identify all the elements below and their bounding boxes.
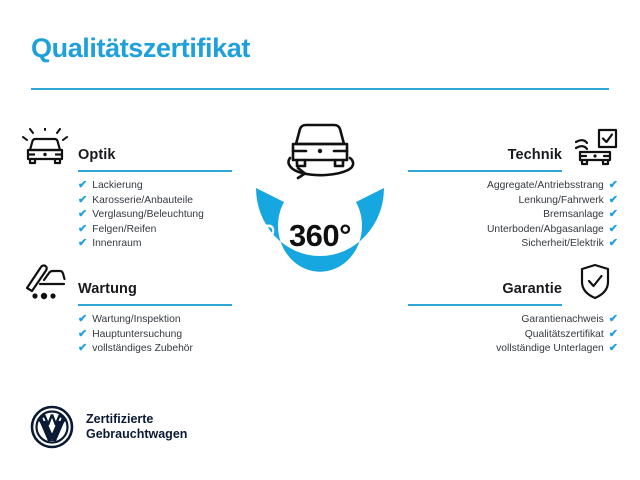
list-item-label: Karosserie/Anbauteile (92, 194, 193, 209)
list-item: ✔Verglasung/Beleuchtung (22, 208, 232, 223)
gebrauchtwagen-check-badge: Gebrauchtwagen-Check 360° (238, 118, 402, 318)
list-item-label: vollständiges Zubehör (92, 342, 193, 357)
checklist: Garantienachweis✔ Qualitätszertifikat✔ v… (408, 306, 618, 357)
section-technik: Technik Aggregate/Antriebsstrang✔ Lenkun… (408, 128, 618, 252)
section-header: Optik (22, 128, 232, 172)
volkswagen-logo (30, 405, 74, 449)
list-item-label: Felgen/Reifen (92, 223, 156, 238)
check-icon: ✔ (609, 195, 618, 206)
list-item-label: Bremsanlage (543, 208, 604, 223)
dipstick-oil-drops-icon (22, 262, 68, 302)
vw-footer: Zertifizierte Gebrauchtwagen (30, 405, 187, 449)
list-item-label: Lenkung/Fahrwerk (519, 194, 604, 209)
list-item-label: Hauptuntersuchung (92, 328, 182, 343)
list-item-label: Unterboden/Abgasanlage (487, 223, 604, 238)
list-item: Unterboden/Abgasanlage✔ (408, 223, 618, 238)
section-title: Wartung (78, 281, 137, 297)
list-item-label: vollständige Unterlagen (496, 342, 604, 357)
list-item: ✔Hauptuntersuchung (22, 328, 232, 343)
check-icon: ✔ (609, 238, 618, 249)
car-hood-checkbox-icon (572, 128, 618, 168)
checklist: Aggregate/Antriebsstrang✔ Lenkung/Fahrwe… (408, 172, 618, 252)
section-title: Technik (508, 147, 562, 163)
list-item: ✔Wartung/Inspektion (22, 313, 232, 328)
list-item: ✔vollständiges Zubehör (22, 342, 232, 357)
list-item-label: Qualitätszertifikat (525, 328, 604, 343)
check-icon: ✔ (609, 209, 618, 220)
check-icon: ✔ (78, 195, 87, 206)
section-header: Wartung (22, 262, 232, 306)
badge-center-label: 360° (238, 218, 402, 254)
list-item: Sicherheit/Elektrik✔ (408, 237, 618, 252)
list-item: Qualitätszertifikat✔ (408, 328, 618, 343)
list-item: vollständige Unterlagen✔ (408, 342, 618, 357)
check-icon: ✔ (609, 180, 618, 191)
list-item-label: Sicherheit/Elektrik (521, 237, 603, 252)
page-title: Qualitätszertifikat (31, 33, 250, 64)
list-item-label: Wartung/Inspektion (92, 313, 180, 328)
section-underline (408, 170, 562, 172)
checklist: ✔Wartung/Inspektion ✔Hauptuntersuchung ✔… (22, 306, 232, 357)
title-divider (31, 88, 609, 90)
list-item: ✔Karosserie/Anbauteile (22, 194, 232, 209)
check-icon: ✔ (609, 314, 618, 325)
list-item: Garantienachweis✔ (408, 313, 618, 328)
check-icon: ✔ (78, 329, 87, 340)
check-icon: ✔ (78, 180, 87, 191)
list-item-label: Lackierung (92, 179, 142, 194)
list-item-label: Innenraum (92, 237, 141, 252)
list-item: ✔Lackierung (22, 179, 232, 194)
section-optik: Optik ✔Lackierung ✔Karosserie/Anbauteile… (22, 128, 232, 252)
section-title: Optik (78, 147, 116, 163)
section-underline (78, 304, 232, 306)
list-item-label: Garantienachweis (521, 313, 603, 328)
check-icon: ✔ (78, 209, 87, 220)
vw-footer-line1: Zertifizierte (86, 412, 187, 428)
list-item: Bremsanlage✔ (408, 208, 618, 223)
list-item-label: Aggregate/Antriebsstrang (487, 179, 604, 194)
car-rotate-360-icon (276, 118, 364, 184)
list-item-label: Verglasung/Beleuchtung (92, 208, 204, 223)
section-wartung: Wartung ✔Wartung/Inspektion ✔Hauptunters… (22, 262, 232, 357)
check-icon: ✔ (78, 238, 87, 249)
vw-footer-line2: Gebrauchtwagen (86, 427, 187, 443)
check-icon: ✔ (609, 343, 618, 354)
section-underline (408, 304, 562, 306)
list-item: Aggregate/Antriebsstrang✔ (408, 179, 618, 194)
section-header: Garantie (408, 262, 618, 306)
check-icon: ✔ (609, 329, 618, 340)
section-title: Garantie (502, 281, 562, 297)
vw-footer-text: Zertifizierte Gebrauchtwagen (86, 412, 187, 443)
check-icon: ✔ (609, 224, 618, 235)
shield-check-icon (572, 262, 618, 302)
check-icon: ✔ (78, 314, 87, 325)
list-item: Lenkung/Fahrwerk✔ (408, 194, 618, 209)
check-icon: ✔ (78, 224, 87, 235)
list-item: ✔Felgen/Reifen (22, 223, 232, 238)
checklist: ✔Lackierung ✔Karosserie/Anbauteile ✔Verg… (22, 172, 232, 252)
section-garantie: Garantie Garantienachweis✔ Qualitätszert… (408, 262, 618, 357)
list-item: ✔Innenraum (22, 237, 232, 252)
section-underline (78, 170, 232, 172)
car-shine-icon (22, 128, 68, 168)
check-icon: ✔ (78, 343, 87, 354)
section-header: Technik (408, 128, 618, 172)
